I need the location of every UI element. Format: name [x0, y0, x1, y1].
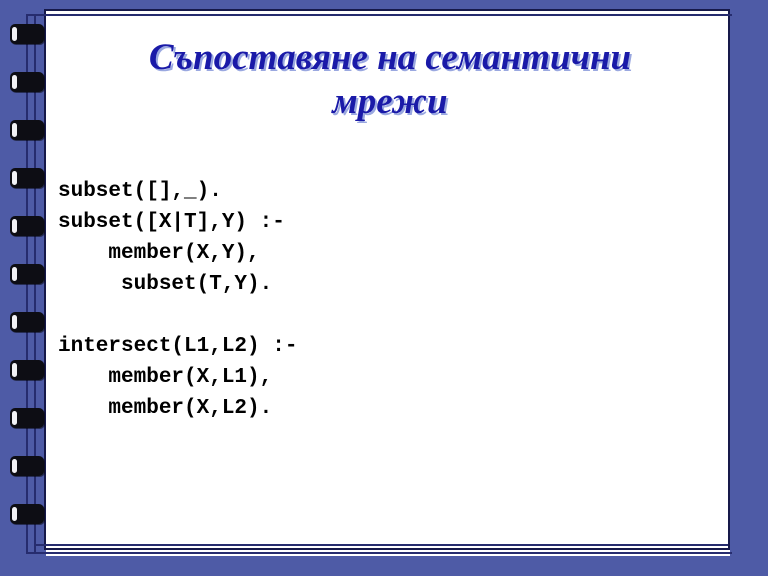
notebook-bottom-band: [0, 556, 768, 576]
code-line-blank: [58, 300, 678, 331]
code-line: subset([],_).: [58, 176, 678, 207]
code-line: member(X,Y),: [58, 238, 678, 269]
spiral-ring: [10, 312, 44, 332]
spiral-ring: [10, 360, 44, 380]
spiral-ring: [10, 264, 44, 284]
spiral-ring: [10, 24, 44, 44]
notebook-right-band: [730, 0, 768, 576]
spiral-ring: [10, 408, 44, 428]
spine-rule-bottom-inner: [34, 544, 728, 546]
spine-rule-top: [26, 14, 732, 16]
spiral-ring: [10, 120, 44, 140]
code-line: member(X,L1),: [58, 362, 678, 393]
spiral-ring: [10, 504, 44, 524]
slide-canvas: Съпоставяне на семантични мрежи subset([…: [0, 0, 768, 576]
spiral-ring: [10, 216, 44, 236]
code-block: subset([],_).subset([X|T],Y) :- member(X…: [58, 176, 678, 424]
spiral-ring: [10, 168, 44, 188]
code-line: subset(T,Y).: [58, 269, 678, 300]
code-line: subset([X|T],Y) :-: [58, 207, 678, 238]
code-line: member(X,L2).: [58, 393, 678, 424]
spiral-ring: [10, 72, 44, 92]
page-title: Съпоставяне на семантични мрежи: [90, 36, 690, 124]
spiral-ring: [10, 456, 44, 476]
code-line: intersect(L1,L2) :-: [58, 331, 678, 362]
spine-rule-bottom-outer: [26, 552, 732, 554]
